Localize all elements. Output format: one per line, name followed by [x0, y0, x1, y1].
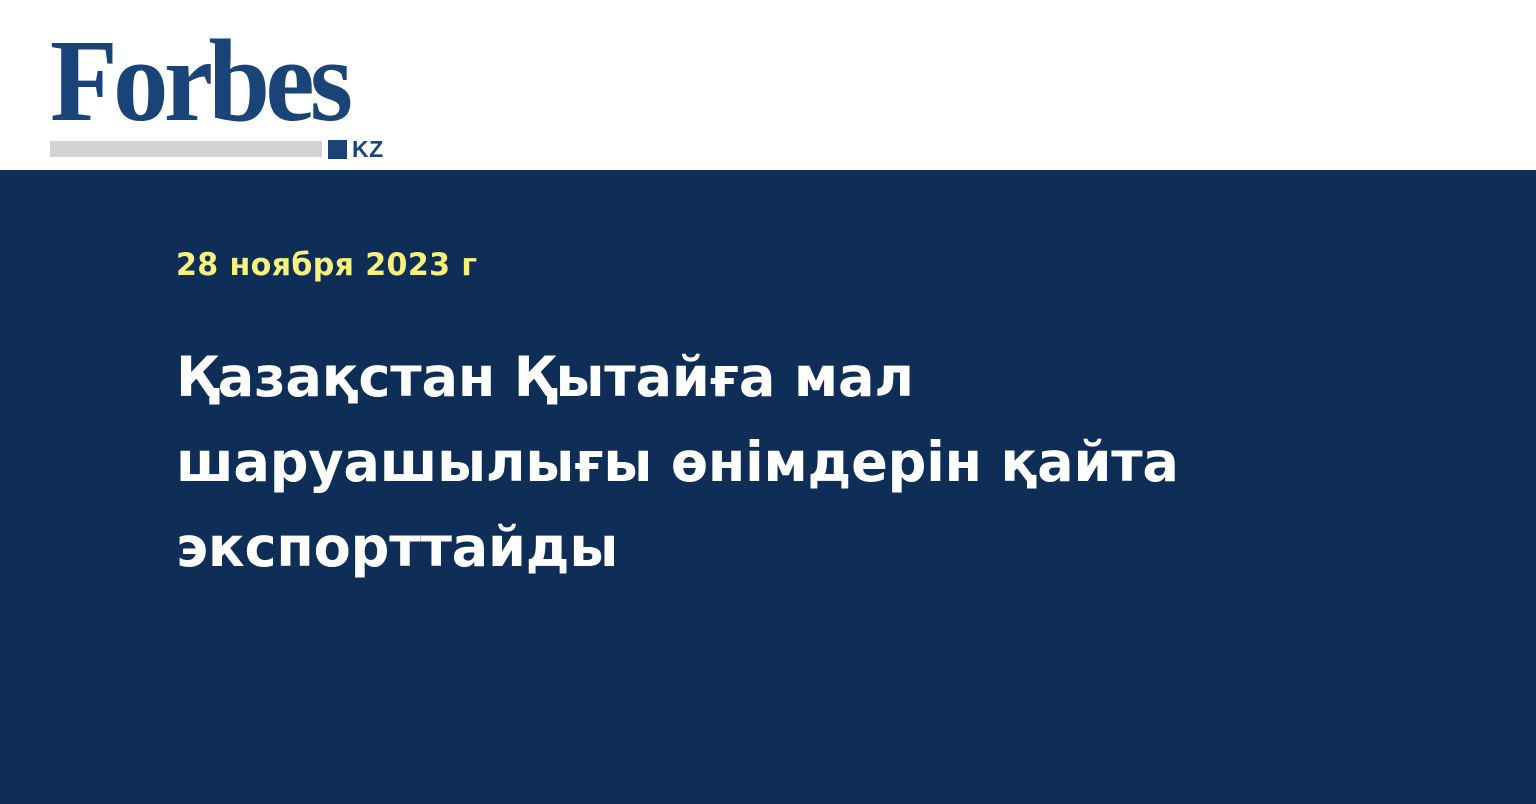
logo-kz-mark: KZ	[328, 139, 384, 159]
forbes-wordmark: Forbes	[50, 22, 348, 140]
forbes-kz-logo[interactable]: Forbes KZ	[50, 22, 410, 146]
article-hero-content: 28 ноября 2023 г Қазақстан Қытайға мал ш…	[176, 248, 1356, 590]
article-publish-date: 28 ноября 2023 г	[176, 248, 1321, 282]
page-root: Forbes KZ 28 ноября 2023 г Қазақстан Қыт…	[0, 0, 1536, 804]
logo-locale-label: KZ	[352, 138, 384, 161]
article-hero: 28 ноября 2023 г Қазақстан Қытайға мал ш…	[0, 170, 1536, 804]
article-headline: Қазақстан Қытайға мал шаруашылығы өнімде…	[176, 335, 1299, 590]
filled-square-icon	[328, 140, 347, 159]
logo-gray-rule	[50, 141, 322, 157]
site-header: Forbes KZ	[0, 0, 1536, 170]
